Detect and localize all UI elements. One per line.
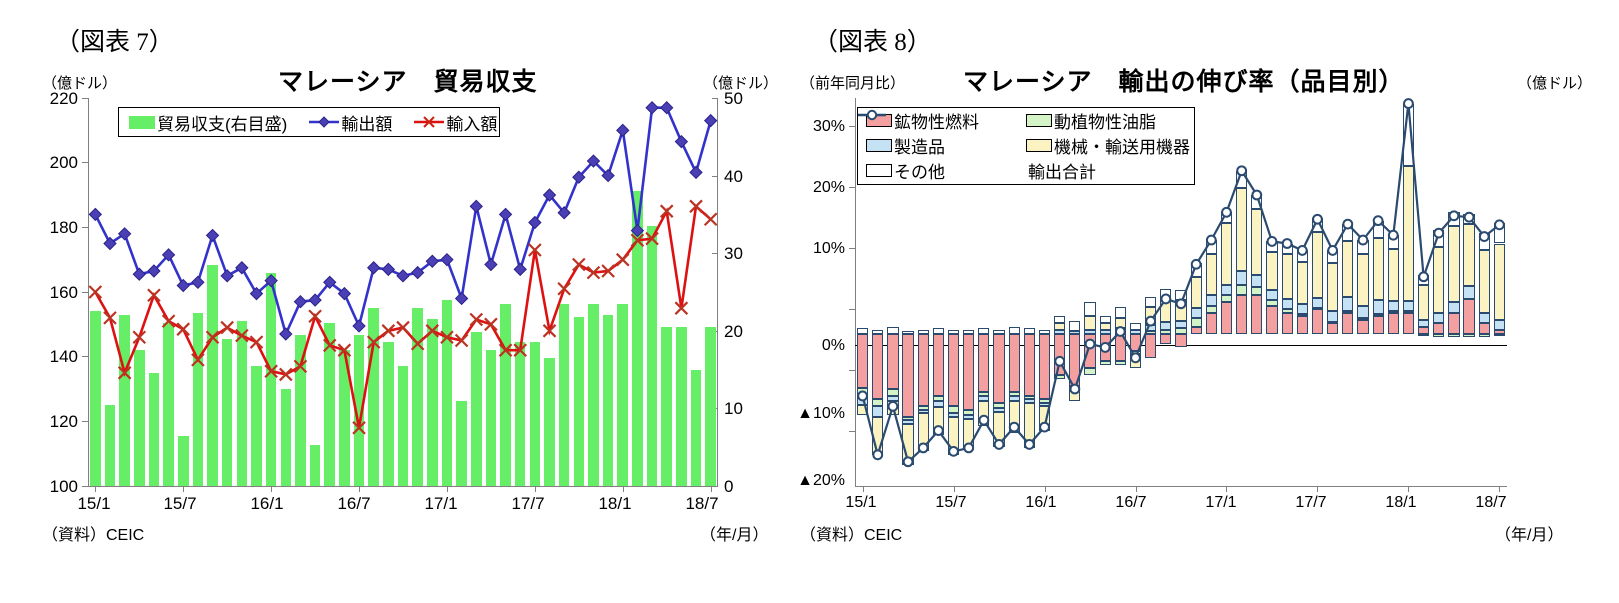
legend-swatch-animal-vegetable-oils xyxy=(1026,114,1052,127)
x-tick-left xyxy=(623,486,624,492)
legend-item-others[interactable]: その他 xyxy=(866,158,1026,183)
legend-label-machinery-transport: 機械・輸送用機器 xyxy=(1054,133,1190,158)
right-unit-label-right: （億ドル） xyxy=(1517,72,1592,93)
x-tick-label-0-right: 15/1 xyxy=(831,494,891,512)
y-right-tick-30: 30 xyxy=(724,244,758,264)
x-tick-label-6-left: 18/1 xyxy=(585,494,645,514)
x-tick-label-7-right: 18/7 xyxy=(1461,494,1521,512)
legend-item-animal-vegetable-oils[interactable]: 動植物性油脂 xyxy=(1026,108,1156,133)
line-series-overlay-left xyxy=(88,98,718,486)
y-left-tick-200: 200 xyxy=(30,153,78,173)
x-tick-label-3-left: 16/7 xyxy=(324,494,384,514)
legend-marker-imports xyxy=(414,115,444,129)
y-left-tick-120: 120 xyxy=(30,412,78,432)
y-right-tick-10: 10 xyxy=(724,399,758,419)
legend-item-total-exports[interactable]: 輸出合計 xyxy=(1026,158,1096,183)
y-right-tick-50: 50 xyxy=(724,89,758,109)
x-tick-label-0-left: 15/1 xyxy=(64,494,124,514)
x-tick-left xyxy=(95,486,96,492)
legend-label-trade-balance: 貿易収支(右目盛) xyxy=(157,110,287,135)
x-tick-label-2-right: 16/1 xyxy=(1011,494,1071,512)
x-tick-left xyxy=(359,486,360,492)
legend-item-trade-balance[interactable]: 貿易収支(右目盛) xyxy=(129,110,287,135)
y-right-tick-20: 20 xyxy=(724,322,758,342)
legend-item-imports[interactable]: 輸入額 xyxy=(414,110,497,135)
y-tick-30pct: 30% xyxy=(795,118,845,136)
y-left-tick-220: 220 xyxy=(30,89,78,109)
x-tick-label-7-left: 18/7 xyxy=(672,494,732,514)
legend-left[interactable]: 貿易収支(右目盛) 輸出額 輸入額 xyxy=(118,107,500,137)
x-tick-label-1-left: 15/7 xyxy=(150,494,210,514)
x-axis-line-right xyxy=(855,486,1507,487)
legend-label-animal-vegetable-oils: 動植物性油脂 xyxy=(1054,108,1156,133)
y-tick-minus10pct: ▲10% xyxy=(795,405,845,423)
chart-panel-trade-balance: （図表 7） （億ドル） （億ドル） マレーシア 貿易収支 220 200 18… xyxy=(0,0,800,603)
y-left-tick-160: 160 xyxy=(30,283,78,303)
x-tick-left xyxy=(271,486,272,492)
source-note-left: （資料）CEIC xyxy=(42,521,144,545)
y-tick-20pct: 20% xyxy=(795,179,845,197)
legend-label-exports: 輸出額 xyxy=(341,110,392,135)
left-axis-unit-label-right: （前年同月比） xyxy=(800,72,905,93)
legend-swatch-manufactured-goods xyxy=(866,139,892,152)
x-tick-left xyxy=(447,486,448,492)
y-tick-minus20pct: ▲20% xyxy=(795,472,845,490)
x-tick-label-6-right: 18/1 xyxy=(1371,494,1431,512)
y-tick-0pct: 0% xyxy=(795,337,845,355)
legend-item-mineral-fuels[interactable]: 鉱物性燃料 xyxy=(866,108,1026,133)
y-left-tick-180: 180 xyxy=(30,218,78,238)
legend-label-imports: 輸入額 xyxy=(446,110,497,135)
figure-label-right: （図表 8） xyxy=(813,22,932,58)
x-tick-label-4-left: 17/1 xyxy=(411,494,471,514)
x-tick-label-1-right: 15/7 xyxy=(921,494,981,512)
x-tick-label-5-right: 17/7 xyxy=(1281,494,1341,512)
y-right-tick-40: 40 xyxy=(724,167,758,187)
x-tick-label-4-right: 17/1 xyxy=(1191,494,1251,512)
legend-swatch-machinery-transport xyxy=(1026,139,1052,152)
legend-marker-exports xyxy=(309,115,339,129)
legend-item-manufactured-goods[interactable]: 製造品 xyxy=(866,133,1026,158)
x-tick-left xyxy=(183,486,184,492)
source-note-right: （資料）CEIC xyxy=(800,521,902,545)
legend-item-machinery-transport[interactable]: 機械・輸送用機器 xyxy=(1026,133,1190,158)
legend-label-manufactured-goods: 製造品 xyxy=(894,133,945,158)
legend-marker-total-exports xyxy=(858,108,886,122)
x-tick-label-2-left: 16/1 xyxy=(237,494,297,514)
page-root: （図表 7） （億ドル） （億ドル） マレーシア 貿易収支 220 200 18… xyxy=(0,0,1619,603)
x-axis-unit-note-right: （年/月） xyxy=(1495,521,1563,545)
chart-title-left: マレーシア 貿易収支 xyxy=(278,62,538,98)
x-tick-label-3-right: 16/7 xyxy=(1101,494,1161,512)
legend-swatch-others xyxy=(866,164,892,177)
legend-item-exports[interactable]: 輸出額 xyxy=(309,110,392,135)
legend-label-others: その他 xyxy=(894,158,945,183)
figure-label-left: （図表 7） xyxy=(55,22,174,58)
x-tick-left xyxy=(711,486,712,492)
legend-label-mineral-fuels: 鉱物性燃料 xyxy=(894,108,979,133)
x-tick-left xyxy=(535,486,536,492)
y-tick-10pct: 10% xyxy=(795,240,845,258)
chart-title-right: マレーシア 輸出の伸び率（品目別） xyxy=(963,62,1405,98)
legend-label-total-exports: 輸出合計 xyxy=(1028,158,1096,183)
x-tick-label-5-left: 17/7 xyxy=(498,494,558,514)
legend-swatch-trade-balance xyxy=(129,116,155,129)
legend-right[interactable]: 鉱物性燃料 動植物性油脂 製造品 機械・輸送用機器 xyxy=(857,107,1195,185)
x-axis-unit-note-left: （年/月） xyxy=(700,521,768,545)
chart-panel-export-growth: （図表 8） （前年同月比） （億ドル） マレーシア 輸出の伸び率（品目別） 3… xyxy=(795,0,1619,603)
y-left-tick-140: 140 xyxy=(30,347,78,367)
